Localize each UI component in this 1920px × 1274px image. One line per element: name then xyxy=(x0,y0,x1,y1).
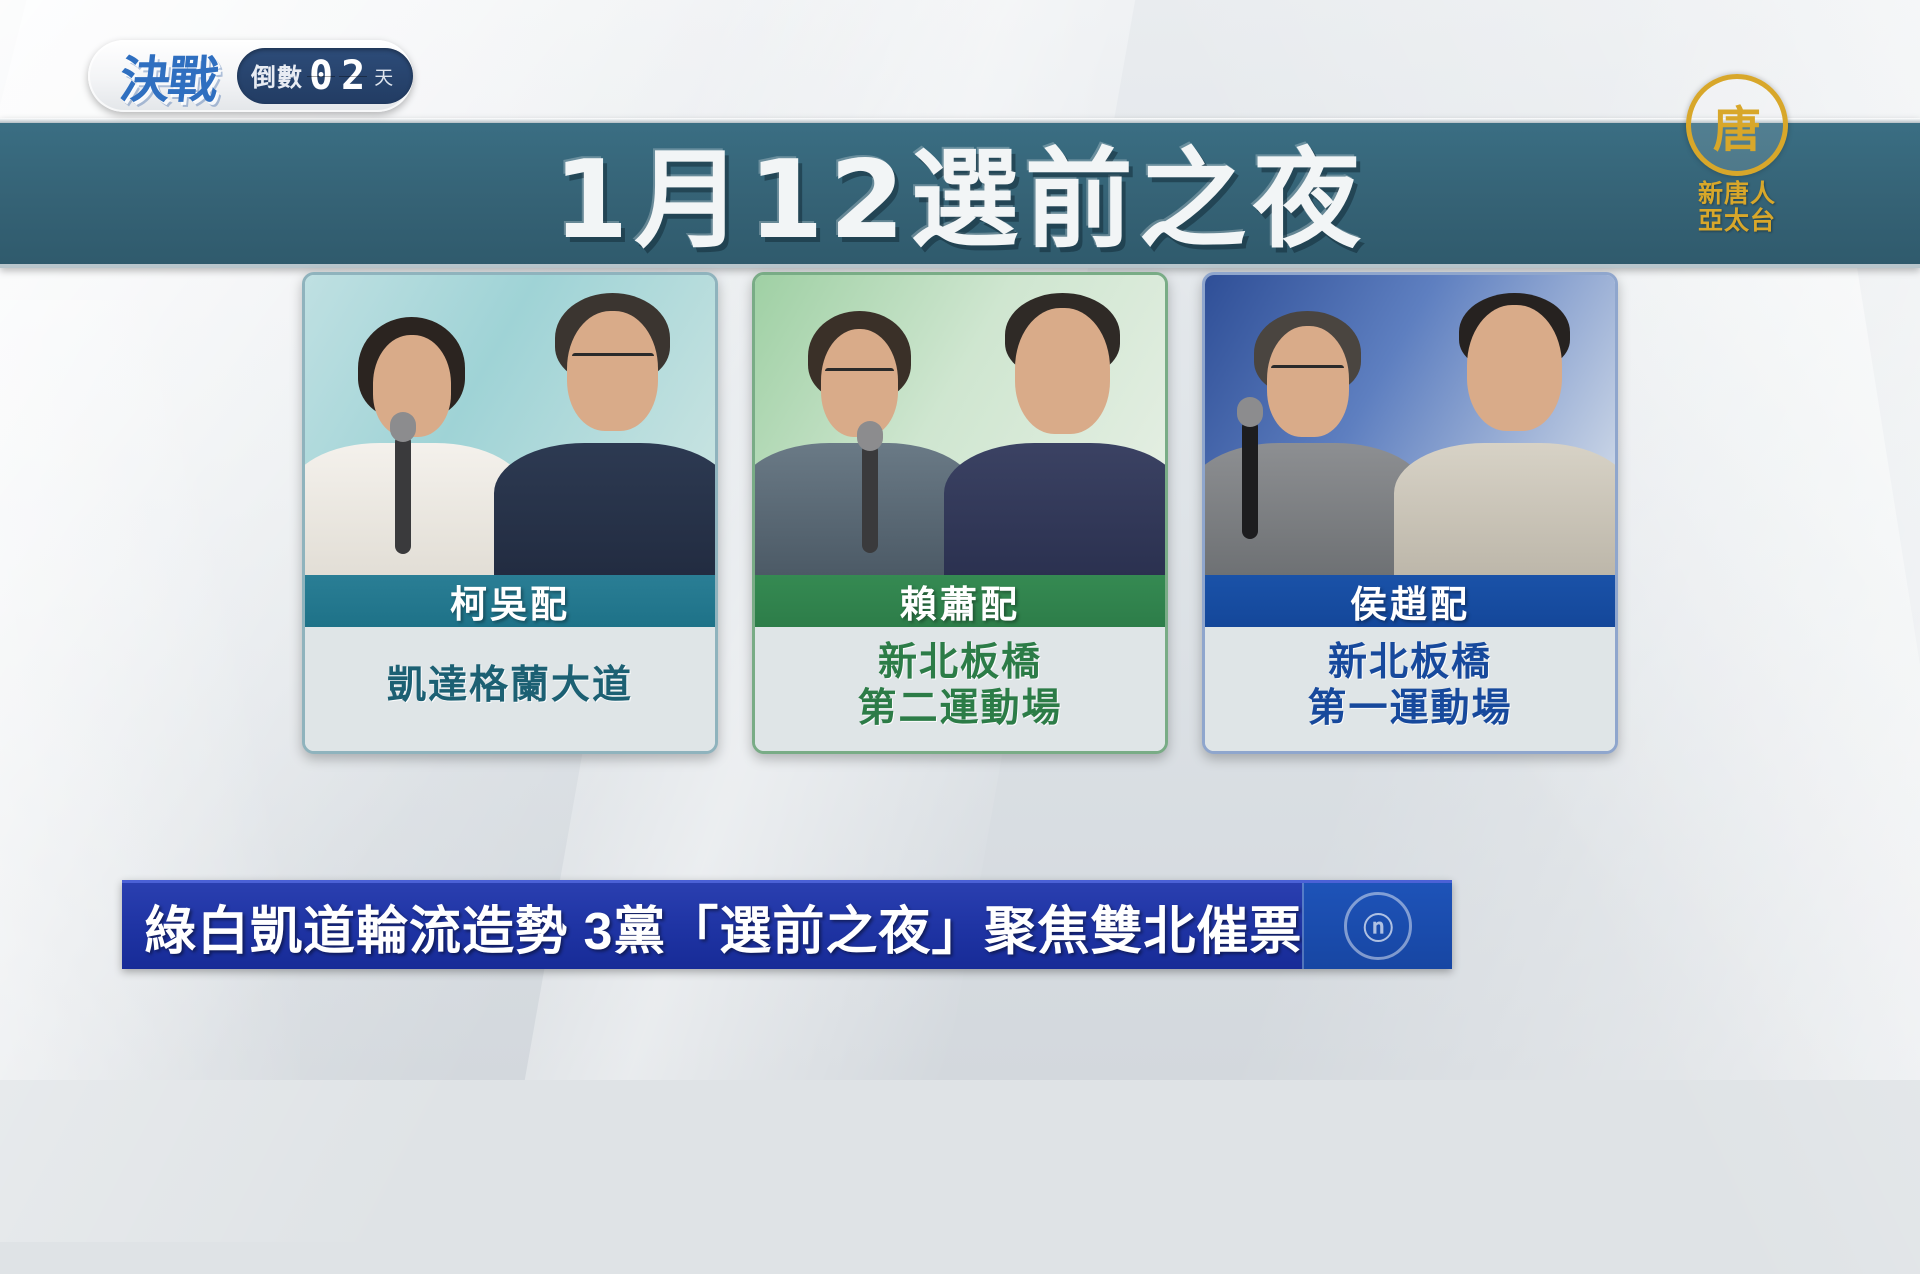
ticker-headline: 綠白凱道輪流造勢 3黨「選前之夜」聚焦雙北催票 xyxy=(122,889,1302,964)
countdown-pill: 倒數 0 2 天 xyxy=(237,48,413,104)
countdown-badge: 決戰 倒數 0 2 天 xyxy=(88,40,413,112)
candidate-card[interactable]: 侯趙配 新北板橋 第一運動場 xyxy=(1202,272,1618,754)
portrait-right xyxy=(1410,275,1615,575)
candidate-card[interactable]: 賴蕭配 新北板橋 第二運動場 xyxy=(752,272,1168,754)
portrait-right xyxy=(510,275,715,575)
card-ticket-label: 侯趙配 xyxy=(1205,575,1615,627)
channel-mark-icon: 唐 xyxy=(1686,74,1788,176)
channel-name: 新唐人 亞太台 xyxy=(1698,181,1776,235)
card-photo xyxy=(1205,275,1615,575)
countdown-digit-tens: 0 xyxy=(307,56,335,96)
card-ticket-label: 柯吳配 xyxy=(305,575,715,627)
card-place-line: 第二運動場 xyxy=(857,686,1062,732)
news-ticker: 綠白凱道輪流造勢 3黨「選前之夜」聚焦雙北催票 ⓝ xyxy=(122,880,1452,969)
candidate-card[interactable]: 柯吳配 凱達格蘭大道 xyxy=(302,272,718,754)
card-place-line: 新北板橋 xyxy=(878,640,1042,686)
countdown-label: 倒數 xyxy=(251,58,303,94)
portrait-right xyxy=(960,275,1165,575)
channel-name-line2: 亞太台 xyxy=(1698,208,1776,235)
portrait-left xyxy=(305,275,510,575)
card-photo xyxy=(305,275,715,575)
program-logo: 決戰 xyxy=(99,46,238,106)
candidate-card-list: 柯吳配 凱達格蘭大道 賴蕭配 xyxy=(0,272,1920,692)
channel-name-line1: 新唐人 xyxy=(1698,181,1776,208)
countdown-digit-ones: 2 xyxy=(339,56,367,96)
card-place: 新北板橋 第二運動場 xyxy=(755,627,1165,751)
countdown-unit: 天 xyxy=(374,63,393,90)
card-place: 新北板橋 第一運動場 xyxy=(1205,627,1615,751)
portrait-left xyxy=(755,275,960,575)
card-place-line: 新北板橋 xyxy=(1328,640,1492,686)
channel-logo: 唐 新唐人 亞太台 xyxy=(1652,74,1822,244)
ticker-logo-ring-icon: ⓝ xyxy=(1344,892,1412,960)
card-photo xyxy=(755,275,1165,575)
ticker-logo: ⓝ xyxy=(1302,883,1452,969)
portrait-left xyxy=(1205,275,1410,575)
card-place-line: 第一運動場 xyxy=(1307,686,1512,732)
card-place: 凱達格蘭大道 xyxy=(305,627,715,751)
page-title: 1月12選前之夜 xyxy=(0,121,1920,261)
card-ticket-label: 賴蕭配 xyxy=(755,575,1165,627)
card-place-line: 凱達格蘭大道 xyxy=(387,663,633,709)
